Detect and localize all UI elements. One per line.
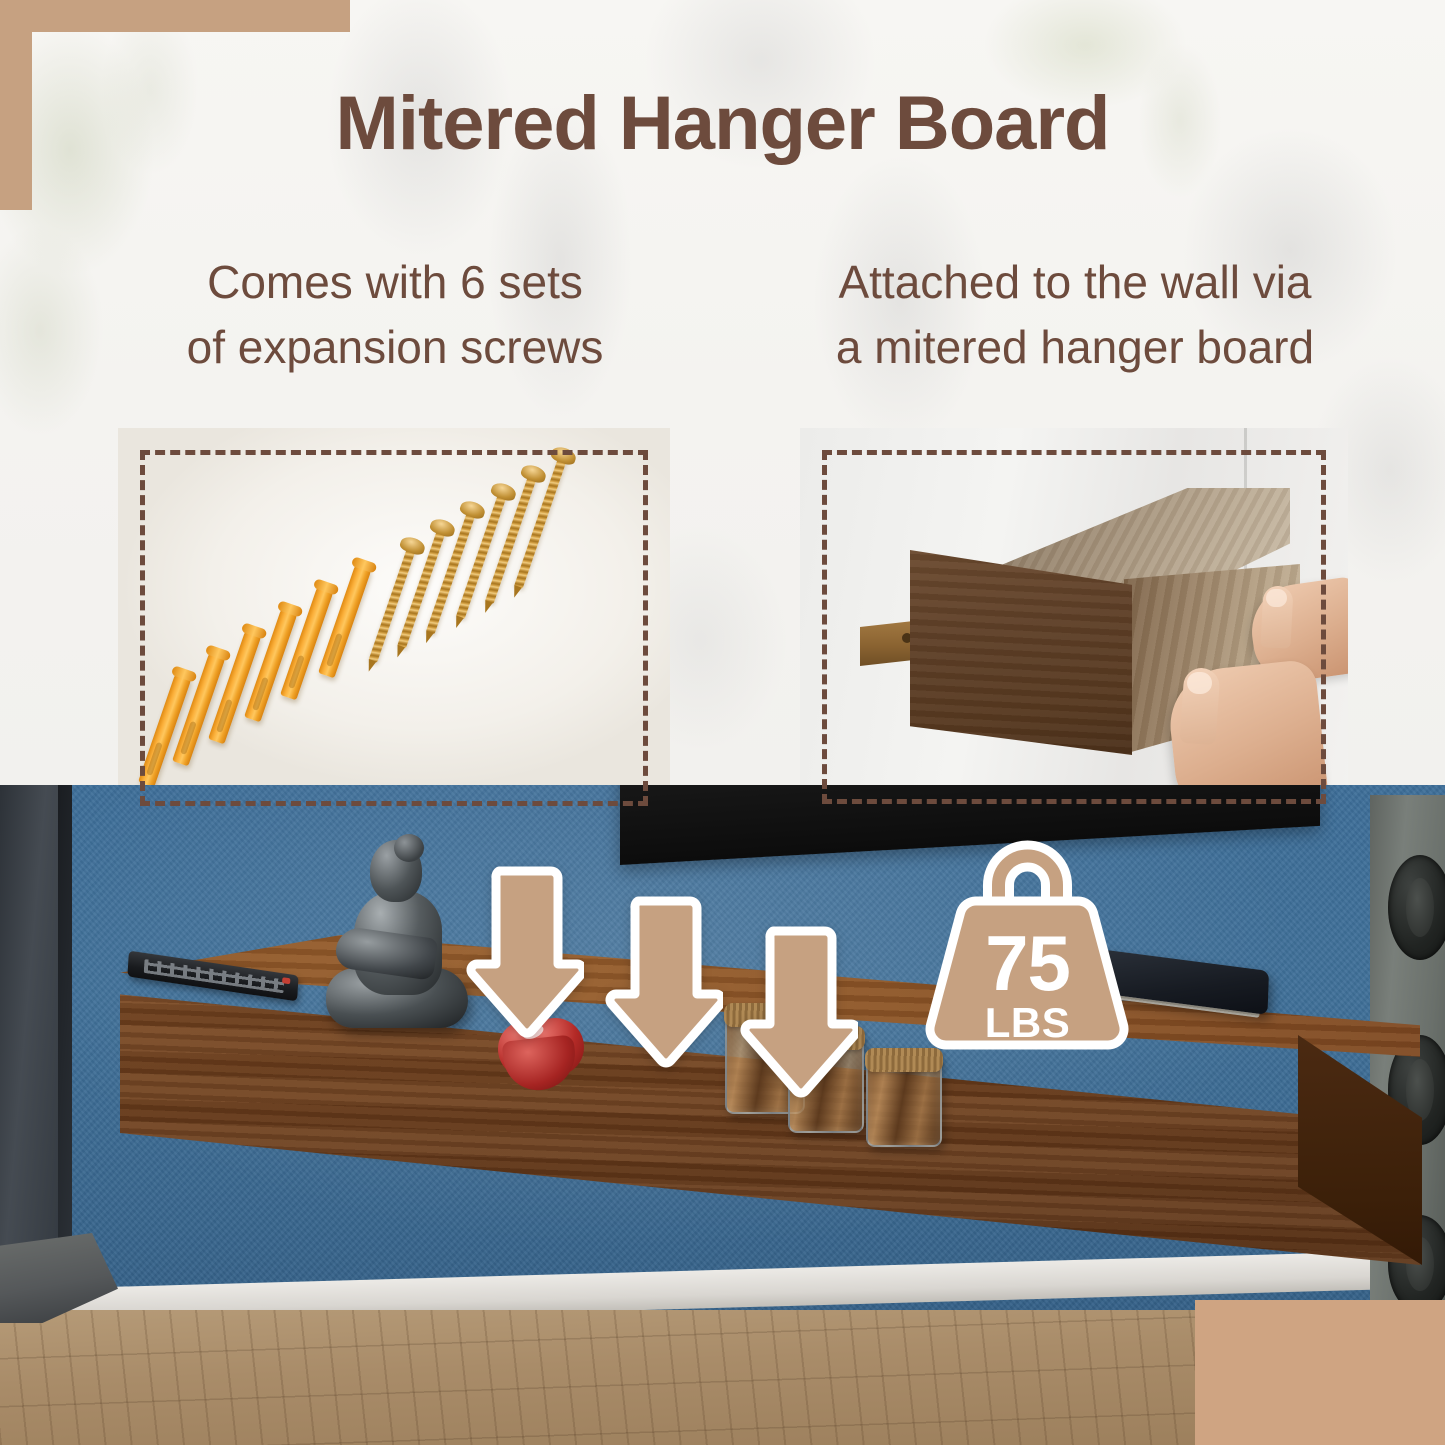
weight-badge-text: 75 LBS: [905, 835, 1150, 1063]
down-arrow-icon: [466, 865, 584, 1040]
page-title: Mitered Hanger Board: [0, 80, 1445, 167]
corner-bracket-top-left-horizontal: [0, 0, 350, 32]
heart-body: [501, 1034, 578, 1093]
screw: [369, 545, 417, 663]
down-arrow-icon: [740, 925, 858, 1100]
caption-mount: Attached to the wall via a mitered hange…: [745, 250, 1405, 381]
corner-block-bottom-right: [1195, 1300, 1445, 1445]
figurine-hair-bun: [394, 834, 424, 862]
wall-anchor: [318, 561, 372, 678]
caption-screws: Comes with 6 sets of expansion screws: [95, 250, 695, 381]
infographic-page: Mitered Hanger Board Comes with 6 sets o…: [0, 0, 1445, 1445]
weight-capacity-badge: 75 LBS: [905, 835, 1150, 1063]
photo-wall-mounting: [800, 428, 1348, 826]
remote-power-button: [282, 977, 290, 984]
glass-jar: [866, 1055, 942, 1147]
caption-screws-line2: of expansion screws: [95, 315, 695, 380]
thumbnail-upper: [1266, 589, 1287, 607]
caption-screws-line1: Comes with 6 sets: [95, 250, 695, 315]
photo-expansion-screws: [118, 428, 670, 828]
weight-unit: LBS: [985, 1001, 1071, 1045]
down-arrow-icon: [605, 895, 723, 1070]
wall-anchor: [280, 583, 334, 700]
tv-stand-edge: [58, 785, 72, 1255]
shelf-end-face: [910, 550, 1132, 755]
thumbnail-lower: [1187, 672, 1212, 694]
caption-mount-line1: Attached to the wall via: [745, 250, 1405, 315]
weight-value: 75: [985, 926, 1070, 1001]
bronze-figurine: [320, 840, 470, 1030]
caption-mount-line2: a mitered hanger board: [745, 315, 1405, 380]
tv-stand-column: [0, 785, 62, 1255]
dashed-frame: [140, 450, 648, 806]
